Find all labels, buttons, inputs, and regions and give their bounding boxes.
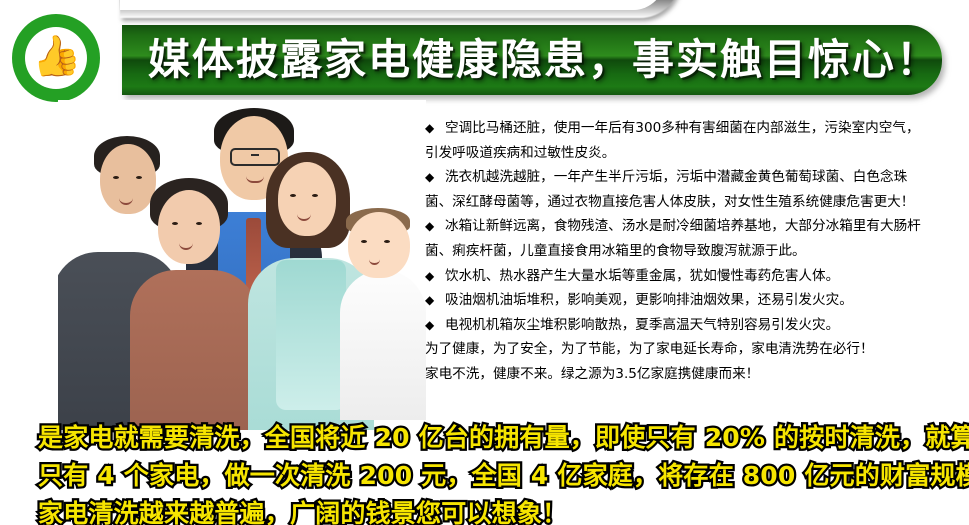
page-title: 媒体披露家电健康隐患，事实触目惊心！ [148,30,938,90]
closing-line-text: 为了健康，为了安全，为了节能，为了家电延长寿命，家电清洗势在必行！ [425,341,874,357]
list-item-text: 菌、深红酵母菌等，通过衣物直接危害人体皮肤，对女性生殖系统健康危害更大！ [425,194,914,210]
list-item-text: 空调比马桶还脏，使用一年后有300多种有害细菌在内部滋生，污染室内空气， [445,120,920,136]
logo-inner-circle: 👍 [25,27,87,89]
list-item-text: 饮水机、热水器产生大量水垢等重金属，犹如慢性毒药危害人体。 [445,268,839,284]
list-item: 引发呼吸道疾病和过敏性皮炎。 [425,141,965,166]
diamond-bullet-icon: ◆ [425,264,434,289]
elderly-man-eye-right [136,176,142,179]
list-item: 菌、痢疾杆菌，儿童直接食用冰箱里的食物导致腹泻就源于此。 [425,239,965,264]
bottom-headline: 是家电就需要清洗，全国将近 20 亿台的拥有量，即使只有 20% 的按时清洗，就… [0,412,969,525]
young-woman-dress [276,260,346,410]
elderly-man-eye-left [113,176,119,179]
closing-line-text: 家电不洗，健康不来。绿之源为3.5亿家庭携健康而来！ [425,366,759,382]
thumbs-up-icon: 👍 [29,34,84,81]
list-item-text: 菌、痢疾杆菌，儿童直接食用冰箱里的食物导致腹泻就源于此。 [425,243,806,259]
eyeglasses-icon [230,148,280,166]
health-hazard-list: ◆空调比马桶还脏，使用一年后有300多种有害细菌在内部滋生，污染室内空气， 引发… [425,116,965,387]
list-item: ◆洗衣机越洗越脏，一年产生半斤污垢，污垢中潜藏金黄色葡萄球菌、白色念珠 [425,165,965,190]
list-item-text: 引发呼吸道疾病和过敏性皮炎。 [425,145,615,161]
bottom-headline-line: 家电清洗越来越普遍，广阔的钱景您可以想象！ [38,494,968,525]
elderly-woman-top [130,270,258,430]
top-shadow-arc-mask [120,0,665,10]
baby-outfit [340,270,426,420]
elderly-woman-face [158,190,220,264]
bottom-headline-line: 只有 4 个家电，做一次清洗 200 元，全国 4 亿家庭，将存在 800 亿元… [38,456,968,492]
list-item-text: 洗衣机越洗越脏，一年产生半斤污垢，污垢中潜藏金黄色葡萄球菌、白色念珠 [445,169,907,185]
diamond-bullet-icon: ◆ [425,214,434,239]
baby-eye-right [384,240,390,243]
list-item: ◆电视机机箱灰尘堆积影响散热，夏季高温天气特别容易引发火灾。 [425,313,965,338]
list-item-text: 吸油烟机油垢堆积，影响美观，更影响排油烟效果，还易引发火灾。 [445,292,853,308]
list-item: ◆冰箱让新鲜远离，食物残渣、汤水是耐冷细菌培养基地，大部分冰箱里有大肠杆 [425,214,965,239]
list-item: 菌、深红酵母菌等，通过衣物直接危害人体皮肤，对女性生殖系统健康危害更大！ [425,190,965,215]
diamond-bullet-icon: ◆ [425,288,434,313]
diamond-bullet-icon: ◆ [425,116,434,141]
family-photo [58,100,426,430]
closing-line: 家电不洗，健康不来。绿之源为3.5亿家庭携健康而来！ [425,362,965,387]
list-item: ◆饮水机、热水器产生大量水垢等重金属，犹如慢性毒药危害人体。 [425,264,965,289]
young-woman-eye-left [290,194,296,197]
baby-face [348,212,410,278]
list-item-text: 冰箱让新鲜远离，食物残渣、汤水是耐冷细菌培养基地，大部分冰箱里有大肠杆 [445,218,921,234]
diamond-bullet-icon: ◆ [425,313,434,338]
list-item: ◆吸油烟机油垢堆积，影响美观，更影响排油烟效果，还易引发火灾。 [425,288,965,313]
bottom-headline-line: 是家电就需要清洗，全国将近 20 亿台的拥有量，即使只有 20% 的按时清洗，就… [38,418,968,454]
poster-root: 👍 媒体披露家电健康隐患，事实触目惊心！ [0,0,969,525]
baby-eye-left [361,240,367,243]
elderly-woman-eye-right [196,222,202,225]
list-item: ◆空调比马桶还脏，使用一年后有300多种有害细菌在内部滋生，污染室内空气， [425,116,965,141]
young-woman-face [278,162,336,236]
closing-line: 为了健康，为了安全，为了节能，为了家电延长寿命，家电清洗势在必行！ [425,337,965,362]
young-woman-eye-right [312,194,318,197]
diamond-bullet-icon: ◆ [425,165,434,190]
list-item-text: 电视机机箱灰尘堆积影响散热，夏季高温天气特别容易引发火灾。 [445,317,839,333]
brand-logo: 👍 [12,14,100,102]
elderly-woman-eye-left [172,222,178,225]
